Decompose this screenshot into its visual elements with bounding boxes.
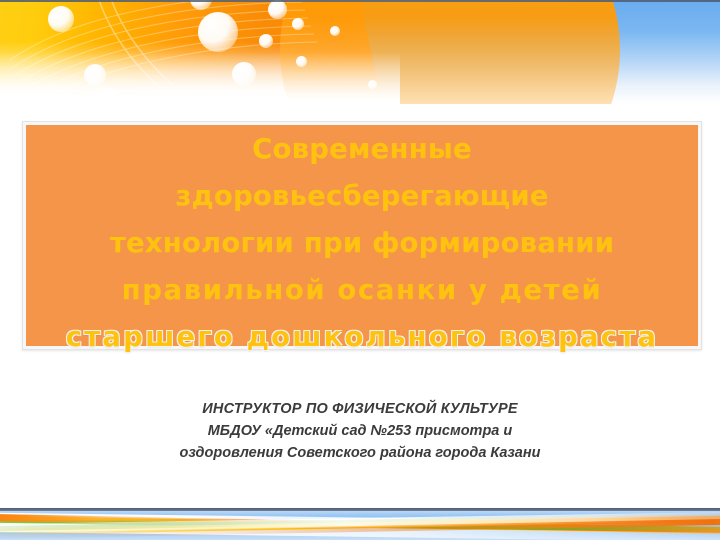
subtitle: ИНСТРУКТОР ПО ФИЗИЧЕСКОЙ КУЛЬТУРЕ МБДОУ … [60,398,660,464]
page-title: Современные здоровьесберегающие технолог… [22,126,702,361]
title-line-2: здоровьесберегающие [22,173,702,220]
subtitle-line-1: ИНСТРУКТОР ПО ФИЗИЧЕСКОЙ КУЛЬТУРЕ [60,398,660,420]
title-line-4: правильной осанки у детей [22,267,702,314]
top-decorative-banner [0,0,720,104]
subtitle-line-3: оздоровления Советского района города Ка… [60,442,660,464]
presentation-slide: Современные здоровьесберегающие технолог… [0,0,720,540]
header-orange-fade [0,52,400,104]
subtitle-line-2: МБДОУ «Детский сад №253 присмотра и [60,420,660,442]
bottom-band-top-edge [0,508,720,511]
slide-top-edge [0,0,720,2]
bottom-decorative-banner [0,508,720,540]
title-line-3: технологии при формировании [22,220,702,267]
title-line-5: старшего дошкольного возраста [22,314,702,361]
title-line-1: Современные [22,126,702,173]
